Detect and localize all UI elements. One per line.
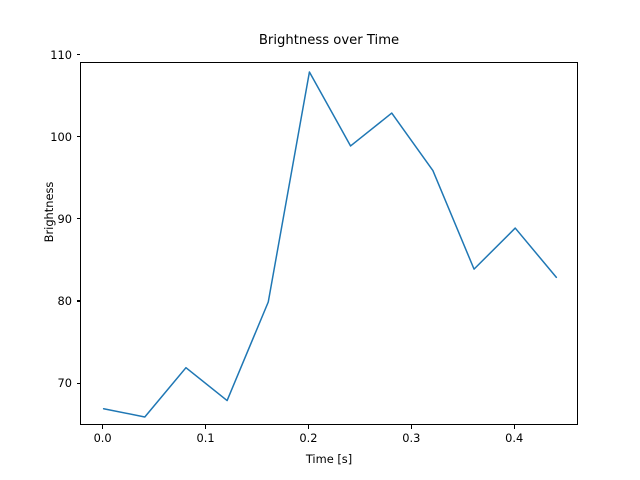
figure-canvas: Brightness over Time Brightness Time [s]… — [0, 0, 640, 480]
y-tick-mark — [77, 54, 81, 55]
y-tick-label: 100 — [50, 130, 72, 144]
x-tick-label: 0.2 — [299, 431, 317, 445]
y-tick-label: 90 — [58, 212, 73, 226]
y-axis-label: Brightness — [42, 152, 56, 272]
x-tick-label: 0.0 — [94, 431, 112, 445]
plot-area — [80, 62, 578, 425]
y-tick-label: 80 — [58, 294, 73, 308]
x-tick-label: 0.4 — [505, 431, 523, 445]
chart-title: Brightness over Time — [80, 33, 578, 48]
brightness-line-series — [104, 72, 557, 417]
data-line-svg — [81, 63, 579, 426]
x-tick-label: 0.3 — [402, 431, 420, 445]
y-tick-label: 70 — [58, 376, 73, 390]
x-axis-label: Time [s] — [80, 452, 578, 466]
x-tick-label: 0.1 — [196, 431, 214, 445]
y-tick-label: 110 — [50, 48, 72, 62]
